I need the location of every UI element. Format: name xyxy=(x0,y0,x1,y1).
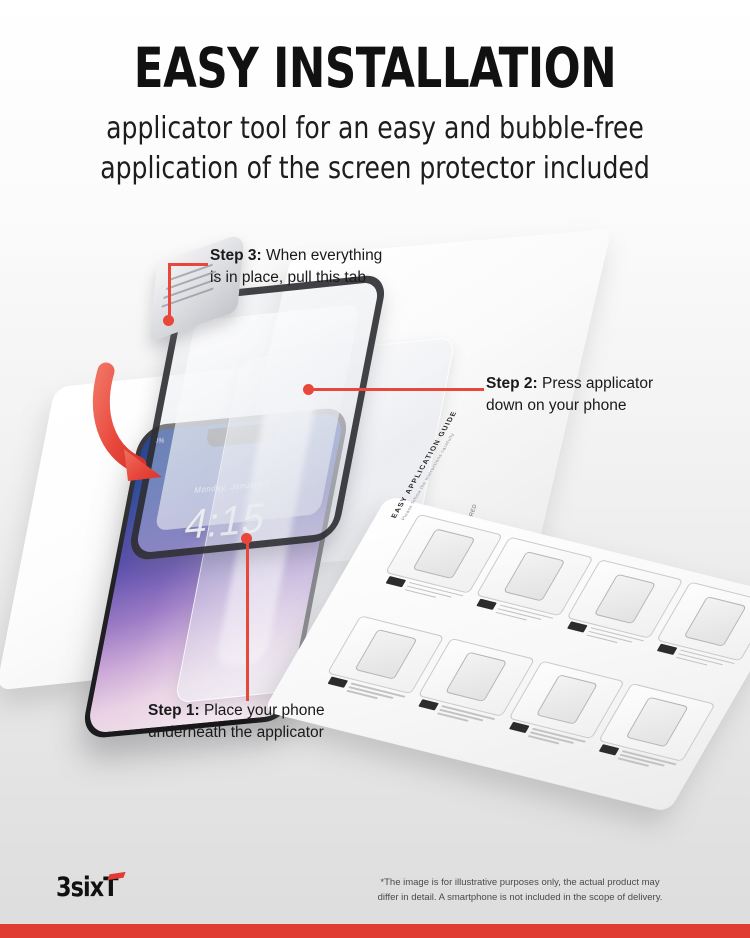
subtitle-line-2: application of the screen protector incl… xyxy=(26,149,724,189)
page-subtitle: applicator tool for an easy and bubble-f… xyxy=(26,109,724,188)
step-3-label: Step 3: xyxy=(210,247,262,264)
step-2-leader-line xyxy=(312,388,484,391)
callout-step-2: Step 2: Press applicator down on your ph… xyxy=(486,373,653,417)
disclaimer-line-2: differ in detail. A smartphone is not in… xyxy=(330,891,710,906)
page-title: EASY INSTALLATION xyxy=(45,40,705,96)
step-3-leader-vertical xyxy=(168,263,171,321)
step-1-text-line1: Place your phone xyxy=(200,702,325,719)
step-3-text-line1: When everything xyxy=(262,247,383,264)
step-3-leader-horizontal xyxy=(168,263,208,266)
step-2-leader-dot xyxy=(303,384,314,395)
step-2-text-line2: down on your phone xyxy=(486,395,653,417)
step-1-leader-dot xyxy=(241,533,252,544)
product-illustration: 3sixT GLASS PROTECTOR · TEMPERED 4% Mond… xyxy=(0,195,750,835)
callout-step-3: Step 3: When everything is in place, pul… xyxy=(210,245,382,289)
step-3-leader-dot xyxy=(163,315,174,326)
bottom-accent-bar xyxy=(0,924,750,938)
subtitle-line-1: applicator tool for an easy and bubble-f… xyxy=(26,109,724,149)
step-1-text-line2: underneath the applicator xyxy=(148,722,325,744)
callout-step-1: Step 1: Place your phone underneath the … xyxy=(148,700,325,744)
rotation-arrow-icon xyxy=(88,353,218,493)
step-2-text-line1: Press applicator xyxy=(538,375,653,392)
legal-disclaimer: *The image is for illustrative purposes … xyxy=(330,876,710,905)
infographic-canvas: EASY INSTALLATION applicator tool for an… xyxy=(0,0,750,938)
guide-step-grid xyxy=(306,514,750,798)
step-1-leader-line xyxy=(246,538,249,701)
disclaimer-line-1: *The image is for illustrative purposes … xyxy=(330,876,710,891)
header: EASY INSTALLATION applicator tool for an… xyxy=(0,40,750,188)
step-2-label: Step 2: xyxy=(486,375,538,392)
step-3-text-line2: is in place, pull this tab xyxy=(210,267,382,289)
step-1-label: Step 1: xyxy=(148,702,200,719)
brand-logo: 3sixT xyxy=(56,872,123,903)
